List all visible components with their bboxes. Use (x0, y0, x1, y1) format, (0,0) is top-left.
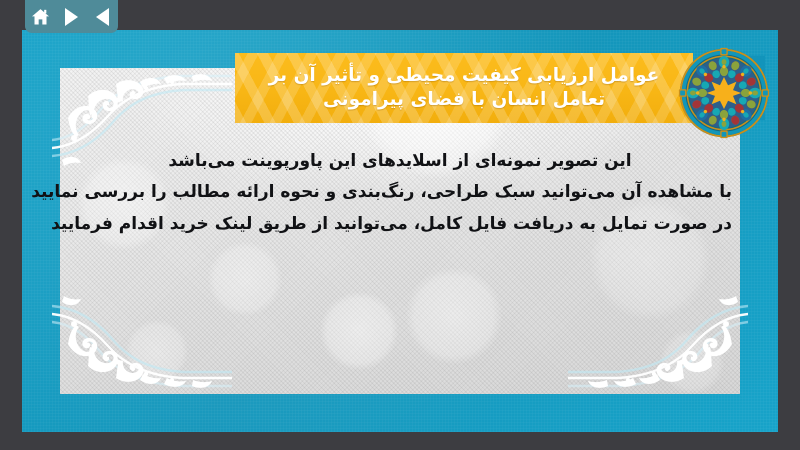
slide-body-text: این تصویر نمونه‌ای از اسلایدهای این پاور… (68, 146, 732, 240)
body-line-3: در صورت تمایل به دریافت فایل کامل، می‌تو… (68, 209, 732, 240)
banner-body: عوامل ارزیابی کیفیت محیطی و تأثیر آن بر … (235, 53, 693, 123)
bokeh-circle (126, 320, 188, 382)
home-icon (30, 7, 51, 27)
bokeh-circle (320, 292, 398, 370)
slide-viewer: عوامل ارزیابی کیفیت محیطی و تأثیر آن بر … (0, 0, 800, 450)
previous-slide-button[interactable] (92, 6, 114, 28)
next-slide-button[interactable] (61, 6, 83, 28)
bokeh-circle (660, 330, 724, 394)
slide-title-line-1: عوامل ارزیابی کیفیت محیطی و تأثیر آن بر (269, 64, 660, 88)
body-line-2: با مشاهده آن می‌توانید سبک طراحی، رنگ‌بن… (68, 177, 732, 208)
mandala-medallion-icon (677, 46, 771, 140)
body-line-1: این تصویر نمونه‌ای از اسلایدهای این پاور… (68, 146, 732, 177)
home-button[interactable] (30, 6, 52, 28)
triangle-right-icon (65, 8, 78, 26)
navigation-toolbar (25, 0, 118, 33)
presentation-slide: عوامل ارزیابی کیفیت محیطی و تأثیر آن بر … (22, 30, 778, 432)
bokeh-circle (208, 242, 282, 316)
bokeh-circle (406, 268, 502, 364)
triangle-left-icon (96, 8, 109, 26)
slide-title-line-2: تعامل انسان با فضای پیرامونی (323, 88, 605, 112)
